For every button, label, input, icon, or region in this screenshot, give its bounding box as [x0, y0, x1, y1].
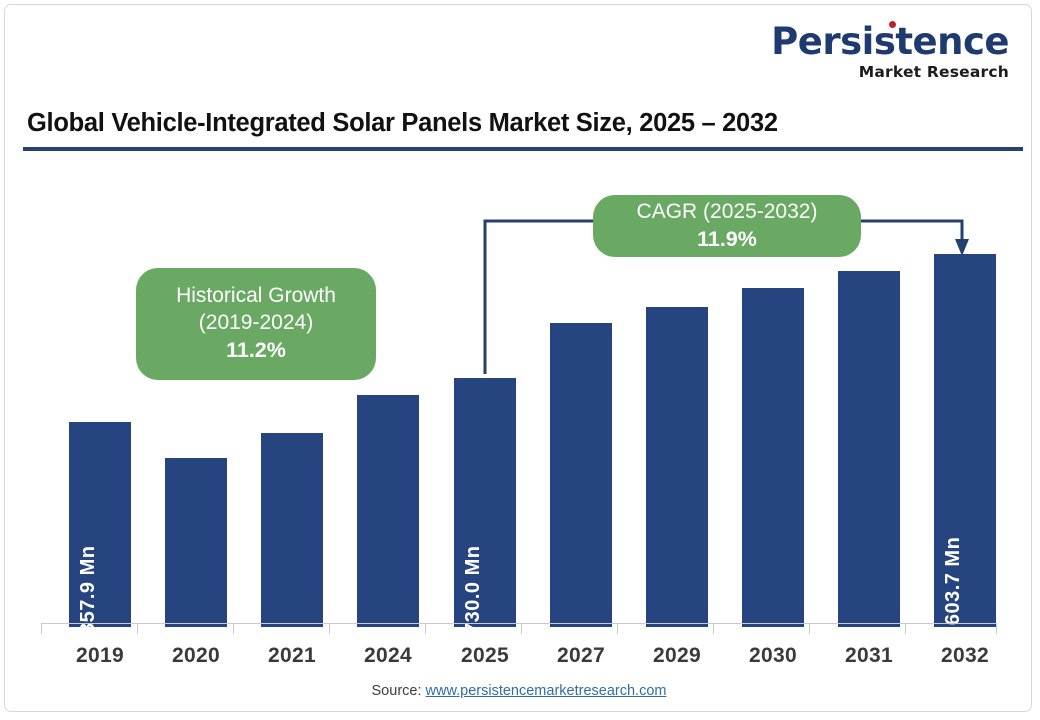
axis-tick: [329, 624, 330, 634]
bar-2020[interactable]: [165, 458, 227, 627]
bar-2024[interactable]: [357, 395, 419, 627]
source-link[interactable]: www.persistencemarketresearch.com: [426, 683, 667, 699]
x-axis-label-2027: 2027: [538, 644, 624, 668]
source-line: Source: www.persistencemarketresearch.co…: [5, 683, 1032, 699]
bar-2021[interactable]: [261, 433, 323, 627]
x-axis-label-2021: 2021: [249, 644, 335, 668]
x-axis-label-2030: 2030: [730, 644, 816, 668]
axis-tick: [617, 624, 618, 634]
historical-callout-value: 11.2%: [226, 337, 286, 365]
cagr-callout-line1: CAGR (2025-2032): [637, 199, 818, 226]
chart-card: Persistence Market Research Global Vehic…: [4, 4, 1032, 712]
axis-tick: [905, 624, 906, 634]
x-axis-label-2031: 2031: [826, 644, 912, 668]
x-axis-label-2020: 2020: [153, 644, 239, 668]
historical-callout-line1: Historical Growth: [176, 283, 336, 310]
bar-2031[interactable]: [838, 271, 900, 627]
axis-tick: [425, 624, 426, 634]
x-axis-label-2025: 2025: [442, 644, 528, 668]
cagr-callout: CAGR (2025-2032) 11.9%: [593, 195, 861, 257]
bar-2029[interactable]: [646, 307, 708, 627]
x-axis-line: [41, 623, 997, 624]
bar-2027[interactable]: [550, 323, 612, 627]
bar-2019[interactable]: US$ 357.9 Mn: [69, 422, 131, 627]
x-axis-label-2024: 2024: [345, 644, 431, 668]
bar-2030[interactable]: [742, 288, 804, 627]
axis-tick: [809, 624, 810, 634]
bar-2032[interactable]: US$ 1,603.7 Mn: [934, 254, 996, 627]
axis-tick: [996, 624, 997, 634]
cagr-callout-value: 11.9%: [697, 226, 757, 254]
axis-tick: [137, 624, 138, 634]
axis-tick: [521, 624, 522, 634]
bar-2025[interactable]: US$ 730.0 Mn: [454, 378, 516, 627]
x-axis-label-2032: 2032: [922, 644, 1008, 668]
historical-callout-line2: (2019-2024): [199, 310, 313, 337]
x-axis-label-2019: 2019: [57, 644, 143, 668]
source-prefix: Source:: [372, 683, 426, 699]
historical-growth-callout: Historical Growth (2019-2024) 11.2%: [136, 268, 376, 380]
axis-tick: [41, 624, 42, 634]
axis-tick: [233, 624, 234, 634]
x-axis-label-2029: 2029: [634, 644, 720, 668]
axis-tick: [713, 624, 714, 634]
